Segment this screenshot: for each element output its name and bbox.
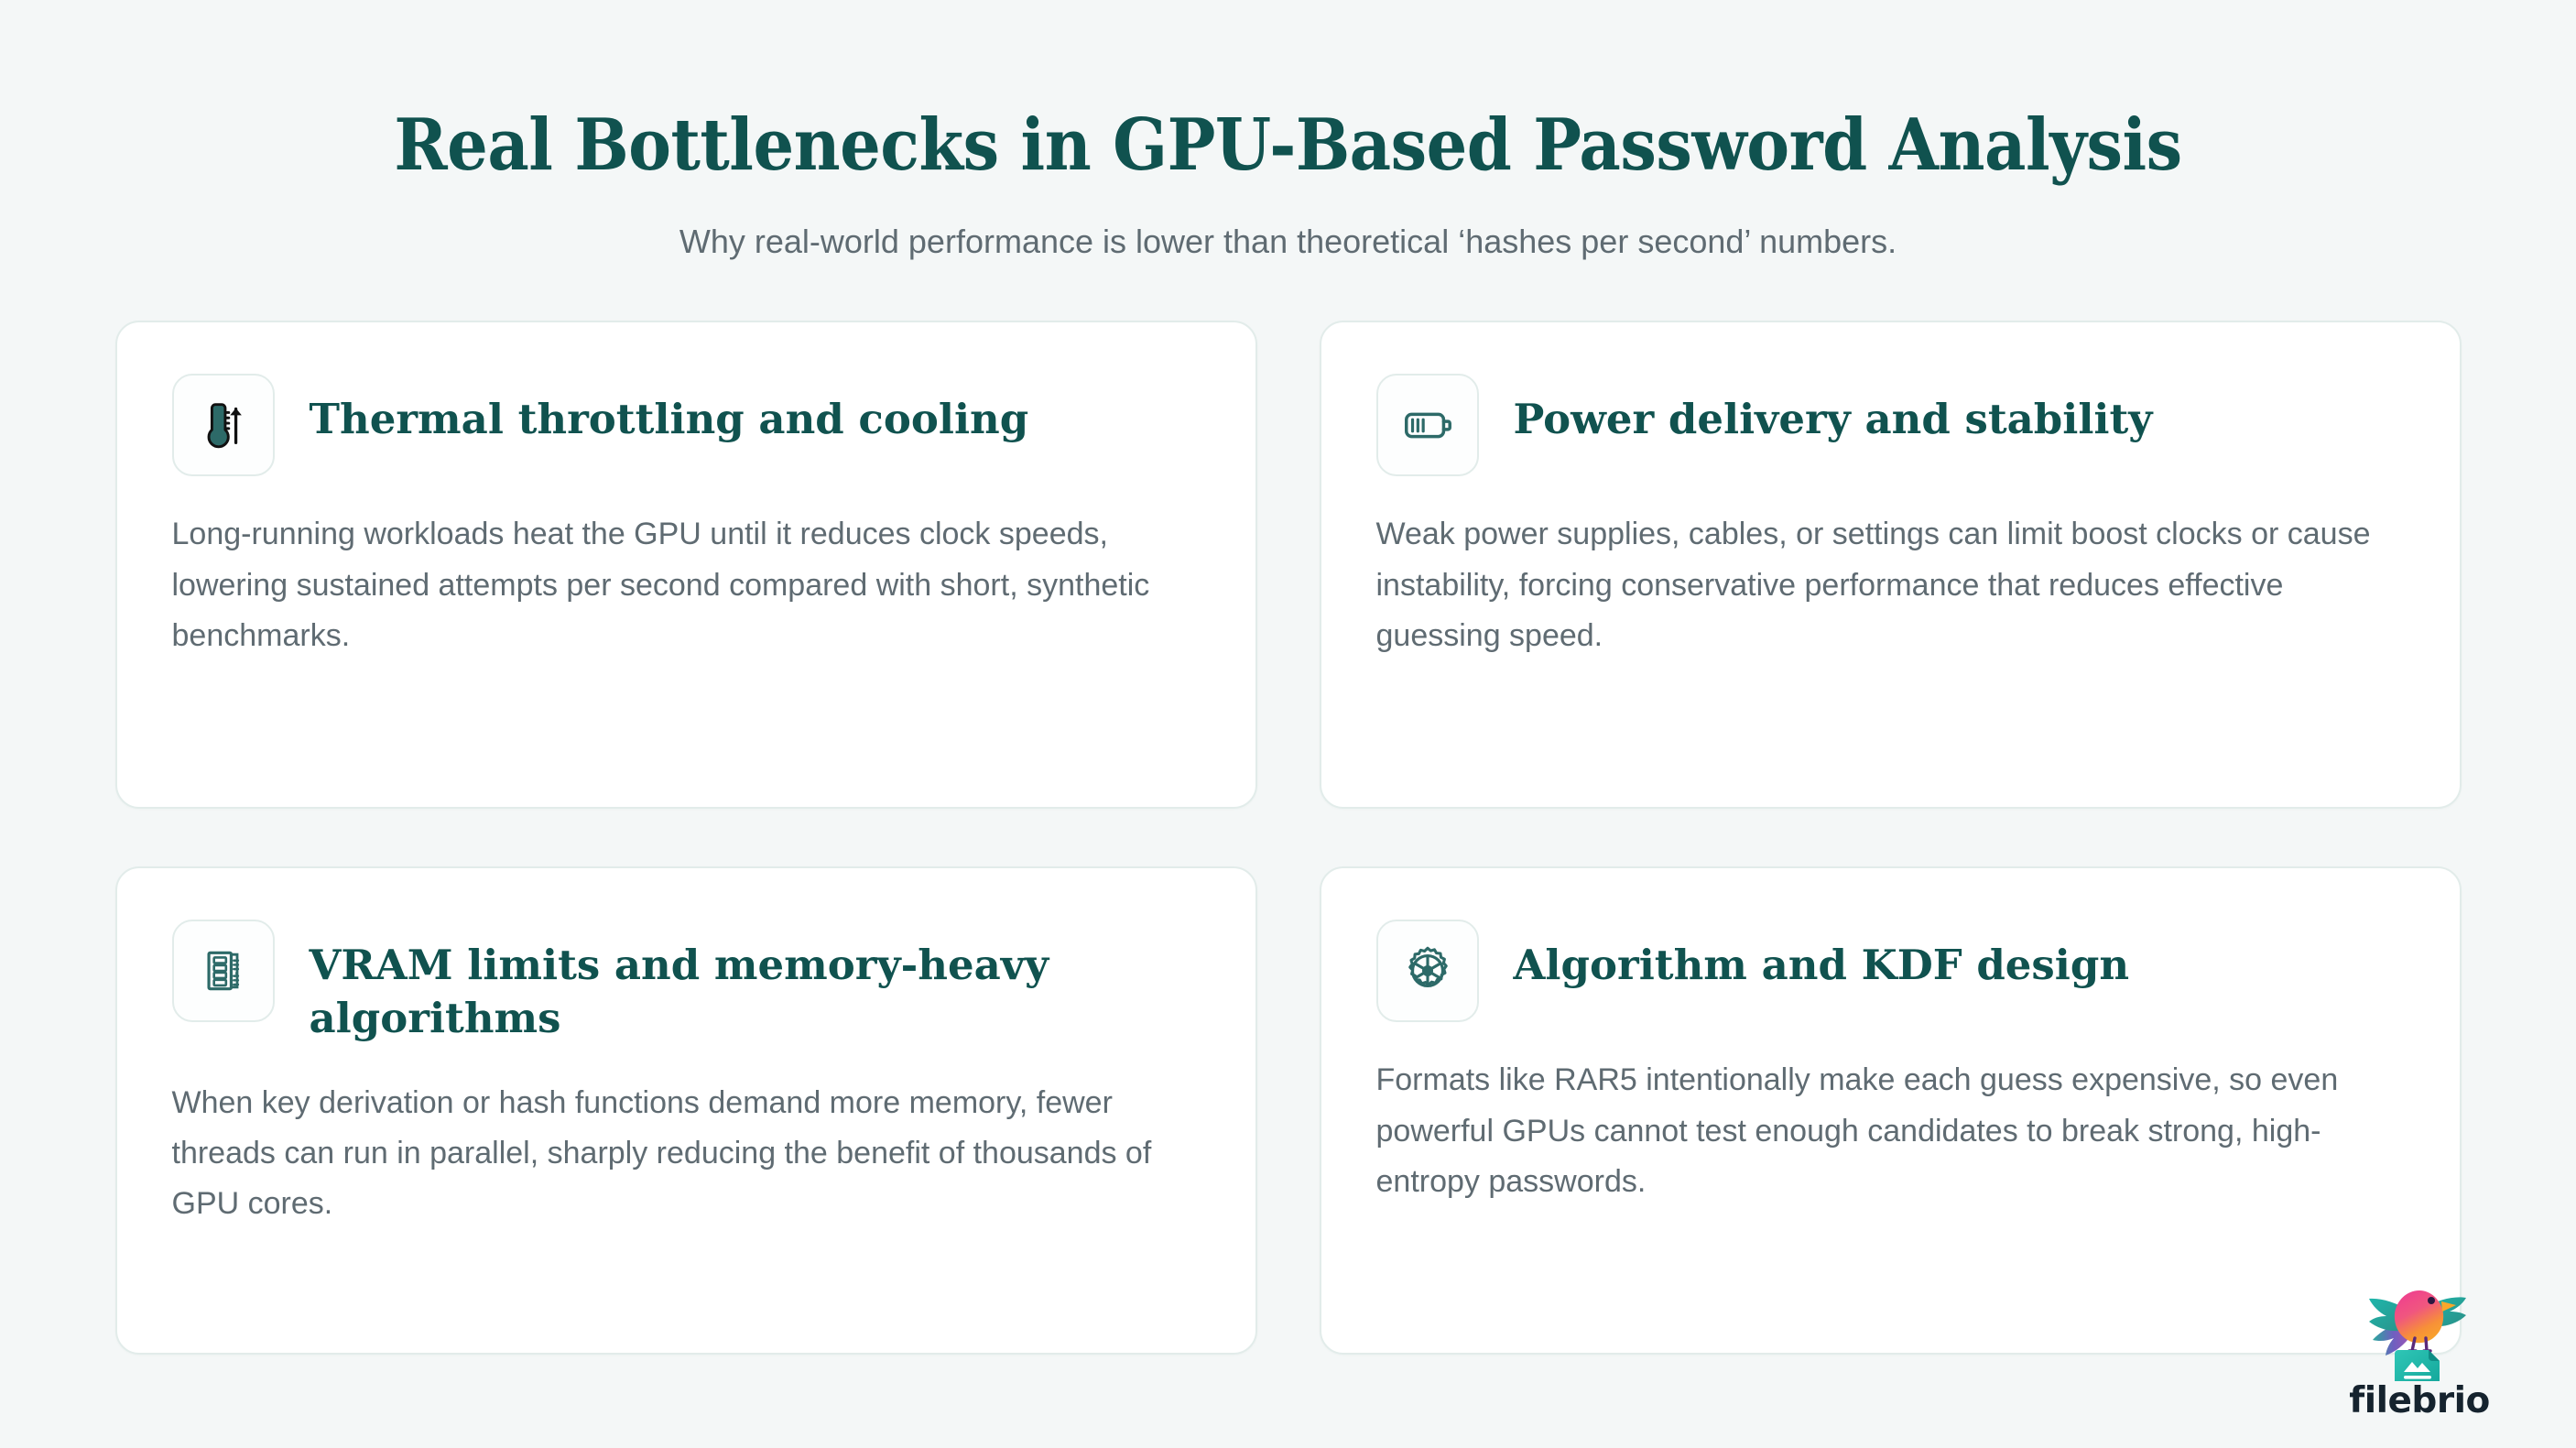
icon-container — [1376, 920, 1479, 1022]
card-body: When key derivation or hash functions de… — [172, 1078, 1201, 1229]
battery-icon — [1399, 397, 1456, 453]
infographic-page: Real Bottlenecks in GPU-Based Password A… — [0, 0, 2576, 1448]
card-title: Algorithm and KDF design — [1514, 920, 2130, 992]
thermometer-icon — [195, 397, 252, 453]
page-subtitle: Why real-world performance is lower than… — [0, 220, 2576, 265]
card-body: Long-running workloads heat the GPU unti… — [172, 509, 1201, 660]
brand-name: filebrio — [2349, 1383, 2489, 1419]
bottleneck-card-grid: Thermal throttling and cooling Long-runn… — [60, 321, 2516, 1355]
icon-container — [172, 374, 275, 476]
brand-logo: filebrio — [2332, 1273, 2506, 1419]
card-header: Thermal throttling and cooling — [172, 359, 1201, 476]
memory-module-icon — [196, 943, 251, 998]
card-title: VRAM limits and memory-heavy algorithms — [310, 920, 1060, 1044]
icon-container — [172, 920, 275, 1022]
card-algorithm-kdf: Algorithm and KDF design Formats like RA… — [1320, 866, 2462, 1355]
gear-icon — [1399, 942, 1456, 999]
card-power-delivery: Power delivery and stability Weak power … — [1320, 321, 2462, 809]
page-title: Real Bottlenecks in GPU-Based Password A… — [0, 108, 2576, 183]
card-title: Thermal throttling and cooling — [310, 374, 1029, 446]
bird-on-file-logo-icon — [2351, 1273, 2488, 1381]
card-header: VRAM limits and memory-heavy algorithms — [172, 905, 1201, 1044]
card-vram-limits: VRAM limits and memory-heavy algorithms … — [115, 866, 1257, 1355]
card-thermal-throttling: Thermal throttling and cooling Long-runn… — [115, 321, 1257, 809]
card-body: Formats like RAR5 intentionally make eac… — [1376, 1055, 2405, 1206]
icon-container — [1376, 374, 1479, 476]
page-header: Real Bottlenecks in GPU-Based Password A… — [0, 0, 2576, 264]
card-header: Power delivery and stability — [1376, 359, 2405, 476]
card-body: Weak power supplies, cables, or settings… — [1376, 509, 2405, 660]
card-header: Algorithm and KDF design — [1376, 905, 2405, 1022]
card-title: Power delivery and stability — [1514, 374, 2153, 446]
